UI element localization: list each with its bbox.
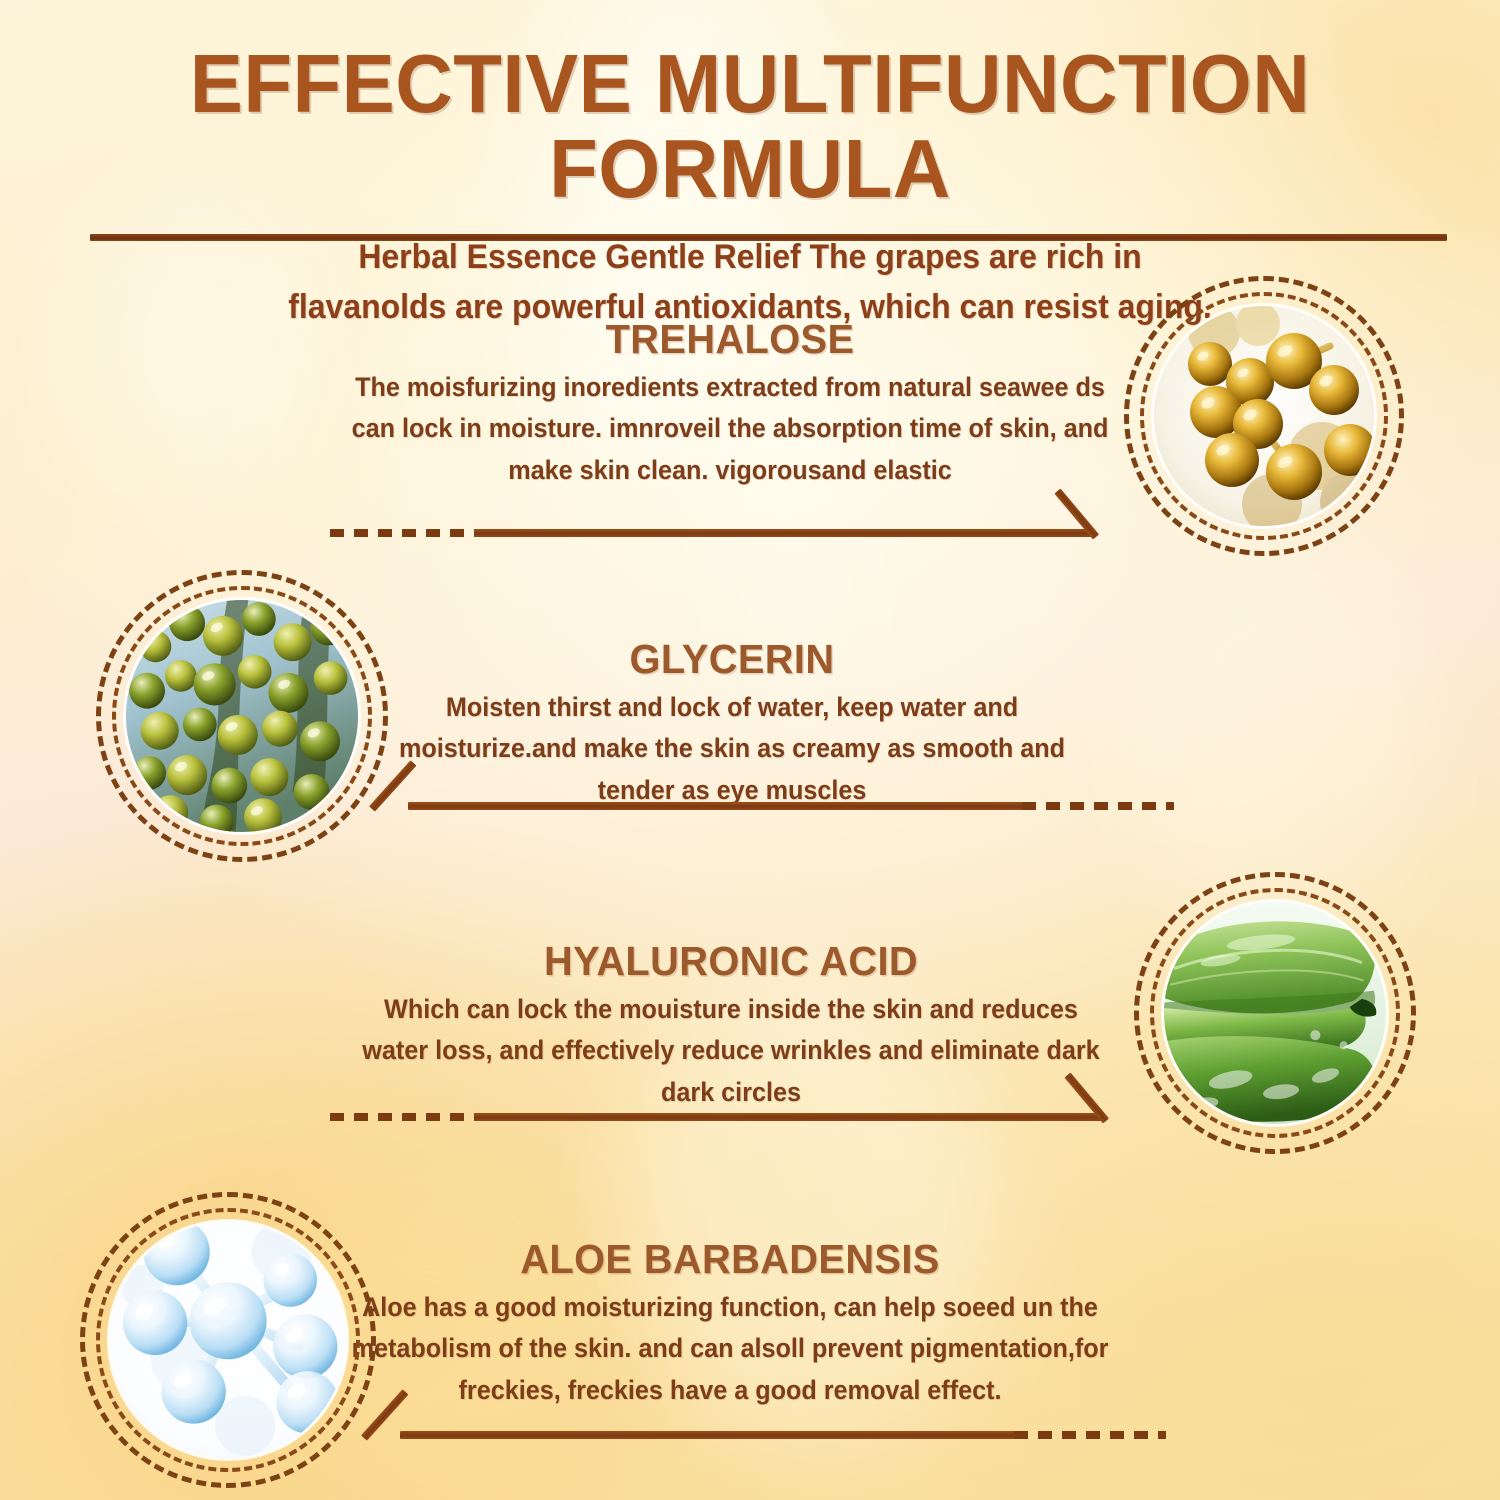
ingredient-description-trehalose: The moisfurizing inoredients extracted f… [350,367,1110,491]
seaweed-photo [126,600,358,832]
connector-dashed-segment [330,529,478,537]
ingredient-name-aloe-barbadensis: ALOE BARBADENSIS [342,1236,1118,1283]
ingredient-block-hyaluronic-acid: HYALURONIC ACID Which can lock the mouis… [336,938,1126,1113]
connector-solid-segment [400,1431,1020,1439]
infographic-poster: EFFECTIVE MULTIFUNCTION FORMULA Herbal E… [0,0,1500,1500]
ingredient-name-trehalose: TREHALOSE [342,316,1118,363]
header-divider-rule [90,234,1447,241]
ingredient-image-hyaluronic-acid [1134,872,1416,1154]
page-title: EFFECTIVE MULTIFUNCTION FORMULA [30,0,1470,211]
ingredient-name-hyaluronic-acid: HYALURONIC ACID [348,938,1114,985]
connector-solid-segment [408,802,1028,810]
ingredient-block-glycerin: GLYCERIN Moisten thirst and lock of wate… [352,636,1112,811]
ingredient-description-aloe-barbadensis: Aloe has a good moisturizing function, c… [350,1287,1110,1411]
ingredient-block-trehalose: TREHALOSE The moisfurizing inoredients e… [330,316,1130,491]
ingredient-image-trehalose [1124,276,1404,556]
water-molecule-photo [110,1222,346,1458]
aloe-leaf-photo [1164,902,1386,1124]
connector-dashed-segment [330,1113,478,1121]
connector-solid-segment [474,1113,1104,1121]
golden-molecule-photo [1154,306,1374,526]
connector-dashed-segment [1022,802,1174,810]
subtitle-line-1: Herbal Essence Gentle Relief The grapes … [45,211,1455,282]
ingredient-description-hyaluronic-acid: Which can lock the mouisture inside the … [356,989,1107,1113]
connector-dashed-segment [1014,1431,1166,1439]
ingredient-image-aloe-barbadensis [80,1192,376,1488]
ingredient-image-glycerin [96,570,388,862]
connector-solid-segment [474,529,1094,537]
ingredient-description-glycerin: Moisten thirst and lock of water, keep w… [371,687,1093,811]
ingredient-block-aloe-barbadensis: ALOE BARBADENSIS Aloe has a good moistur… [330,1236,1130,1411]
ingredient-name-glycerin: GLYCERIN [363,636,1100,683]
